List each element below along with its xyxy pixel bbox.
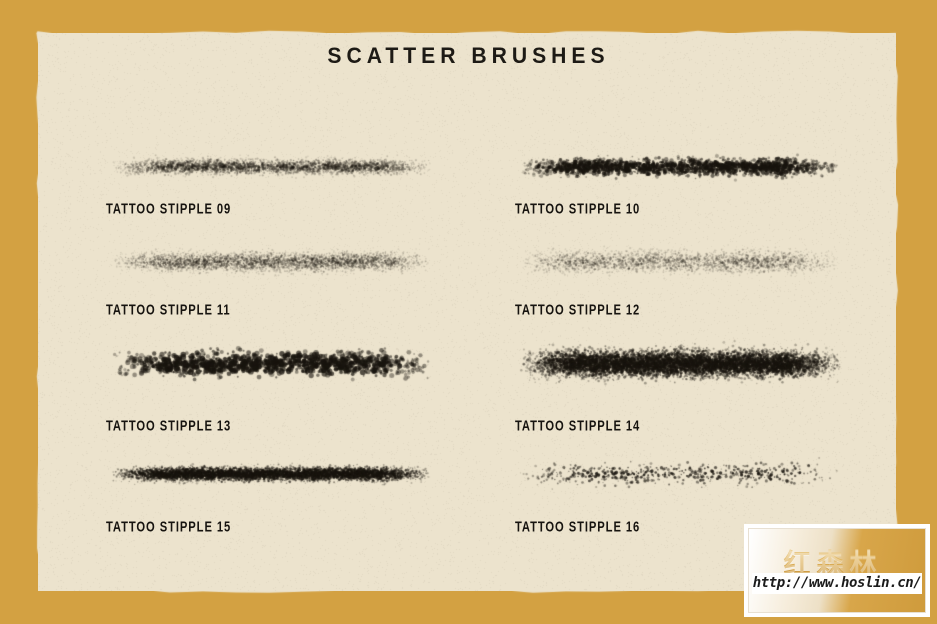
- brush-stroke-texture: [106, 443, 436, 505]
- brush-stroke-texture: [515, 231, 845, 293]
- watermark-url[interactable]: http://www.hoslin.cn/: [752, 573, 922, 594]
- brush-label: TATTOO STIPPLE 15: [106, 518, 231, 535]
- brush-stroke-texture: [515, 443, 845, 505]
- brush-label: TATTOO STIPPLE 10: [515, 200, 640, 217]
- watermark-badge: 红森林 http://www.hoslin.cn/: [744, 524, 930, 617]
- brush-label: TATTOO STIPPLE 14: [515, 417, 640, 434]
- poster-canvas: TATTOO STIPPLE 09TATTOO STIPPLE 10TATTOO…: [0, 0, 937, 624]
- brush-sample[interactable]: [515, 333, 845, 395]
- brush-sample[interactable]: [106, 443, 436, 505]
- brush-sample[interactable]: [106, 333, 436, 395]
- brush-sample[interactable]: [515, 443, 845, 505]
- brush-sample[interactable]: [106, 231, 436, 293]
- brush-stroke-texture: [106, 136, 436, 198]
- brush-stroke-texture: [515, 333, 845, 395]
- brush-sample[interactable]: [106, 136, 436, 198]
- brush-label: TATTOO STIPPLE 13: [106, 417, 231, 434]
- brush-stroke-texture: [106, 333, 436, 395]
- brush-label: TATTOO STIPPLE 09: [106, 200, 231, 217]
- brush-sample[interactable]: [515, 231, 845, 293]
- brush-stroke-texture: [515, 136, 845, 198]
- watermark-inner: 红森林 http://www.hoslin.cn/: [748, 528, 926, 613]
- brush-label: TATTOO STIPPLE 16: [515, 518, 640, 535]
- brush-stroke-texture: [106, 231, 436, 293]
- brush-grid: TATTOO STIPPLE 09TATTOO STIPPLE 10TATTOO…: [38, 33, 896, 591]
- brush-sample[interactable]: [515, 136, 845, 198]
- brush-label: TATTOO STIPPLE 11: [106, 301, 231, 318]
- brush-label: TATTOO STIPPLE 12: [515, 301, 640, 318]
- page-title: SCATTER BRUSHES: [19, 43, 919, 69]
- paper-sheet: TATTOO STIPPLE 09TATTOO STIPPLE 10TATTOO…: [38, 33, 896, 591]
